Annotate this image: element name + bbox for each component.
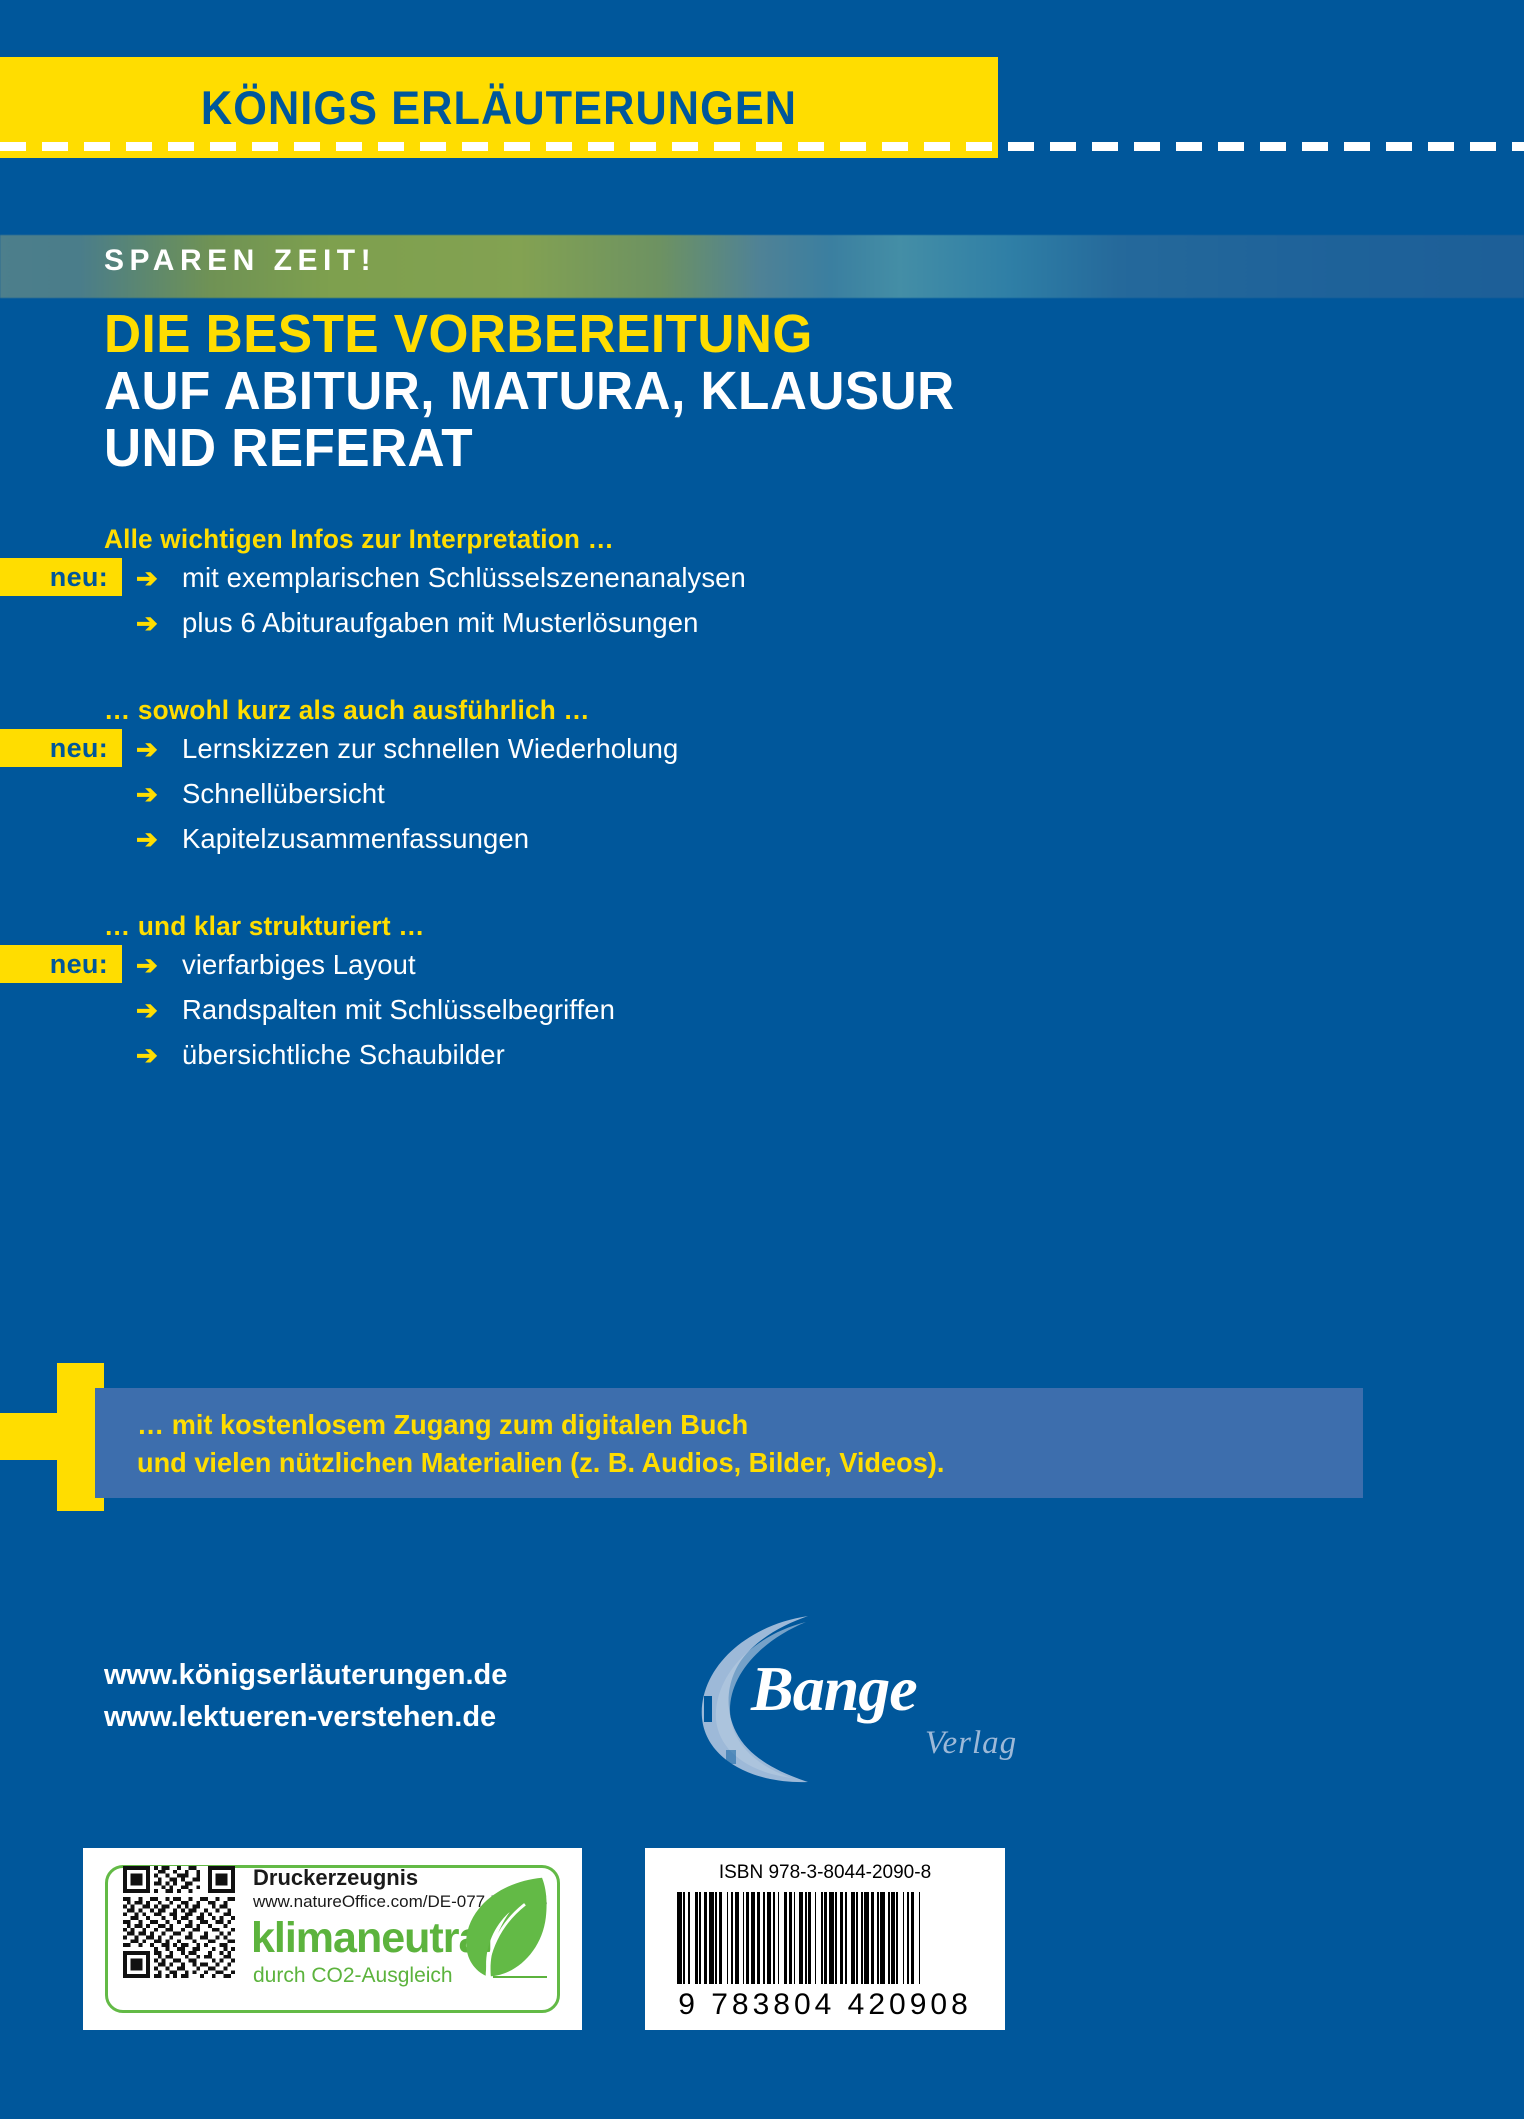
tagline-text: SPAREN ZEIT! — [104, 244, 376, 278]
list-item: ➔ Randspalten mit Schlüsselbegriffen — [0, 987, 1100, 1032]
list-item: ➔ Schnellübersicht — [0, 771, 1100, 816]
publisher-suffix: Verlag — [925, 1725, 1017, 1762]
list-item-label: vierfarbiges Layout — [182, 949, 416, 981]
feature-section: … und klar strukturiert … neu: ➔ vierfar… — [0, 911, 1100, 1077]
arrow-icon: ➔ — [136, 942, 158, 987]
isbn-label: ISBN 978-3-8044-2090-8 — [645, 1862, 1005, 1884]
feature-sections: Alle wichtigen Infos zur Interpretation … — [0, 524, 1100, 1077]
feature-list: neu: ➔ vierfarbiges Layout ➔ Randspalten… — [0, 942, 1100, 1077]
list-item: ➔ übersichtliche Schaubilder — [0, 1032, 1100, 1077]
url-lektueren-verstehen[interactable]: www.lektueren-verstehen.de — [104, 1696, 507, 1738]
list-item: ➔ Kapitelzusammenfassungen — [0, 816, 1100, 861]
list-item-label: mit exemplarischen Schlüsselszenenanalys… — [182, 562, 746, 594]
new-badge: neu: — [0, 558, 122, 596]
headline-line-2: AUF ABITUR, MATURA, KLAUSUR — [104, 363, 1054, 420]
dashed-divider — [0, 142, 1524, 151]
section-heading: Alle wichtigen Infos zur Interpretation … — [104, 524, 1070, 555]
section-spacer — [0, 861, 1100, 911]
new-badge: neu: — [0, 729, 122, 767]
section-heading: … sowohl kurz als auch ausführlich … — [104, 695, 1070, 726]
headline-line-1: DIE BESTE VORBEREITUNG — [104, 306, 1054, 363]
list-item: ➔ plus 6 Abituraufgaben mit Musterlösung… — [0, 600, 1100, 645]
list-item-label: Schnellübersicht — [182, 778, 385, 810]
qr-code-icon — [123, 1866, 235, 1978]
arrow-icon: ➔ — [136, 771, 158, 816]
barcode — [677, 1892, 973, 1984]
list-item: neu: ➔ mit exemplarischen Schlüsselszene… — [0, 555, 1100, 600]
callout-line-1: … mit kostenlosem Zugang zum digitalen B… — [137, 1409, 748, 1440]
book-back-cover: KÖNIGS ERLÄUTERUNGEN SPAREN ZEIT! DIE BE… — [0, 0, 1524, 2119]
list-item-label: Lernskizzen zur schnellen Wiederholung — [182, 733, 678, 765]
callout-line-2: und vielen nützlichen Materialien (z. B.… — [137, 1447, 944, 1478]
headline-line-3: UND REFERAT — [104, 420, 1054, 477]
arrow-icon: ➔ — [136, 555, 158, 600]
leaf-icon — [458, 1872, 554, 1982]
certificate-subline: durch CO2-Ausgleich — [253, 1964, 453, 1988]
feature-list: neu: ➔ Lernskizzen zur schnellen Wiederh… — [0, 726, 1100, 861]
feature-section: … sowohl kurz als auch ausführlich … neu… — [0, 695, 1100, 861]
arrow-icon: ➔ — [136, 1032, 158, 1077]
arrow-icon: ➔ — [136, 726, 158, 771]
section-spacer — [0, 645, 1100, 695]
publisher-name: Bange — [751, 1652, 917, 1726]
list-item: neu: ➔ vierfarbiges Layout — [0, 942, 1100, 987]
new-badge: neu: — [0, 945, 122, 983]
list-item-label: Randspalten mit Schlüsselbegriffen — [182, 994, 615, 1026]
arrow-icon: ➔ — [136, 816, 158, 861]
certificate-title: Druckerzeugnis — [253, 1865, 418, 1891]
list-item-label: übersichtliche Schaubilder — [182, 1039, 505, 1071]
arrow-icon: ➔ — [136, 600, 158, 645]
list-item-label: Kapitelzusammenfassungen — [182, 823, 529, 855]
feature-list: neu: ➔ mit exemplarischen Schlüsselszene… — [0, 555, 1100, 645]
feature-section: Alle wichtigen Infos zur Interpretation … — [0, 524, 1100, 645]
list-item-label: plus 6 Abituraufgaben mit Musterlösungen — [182, 607, 698, 639]
ean-number: 9 783804 420908 — [645, 1988, 1005, 2022]
callout-text: … mit kostenlosem Zugang zum digitalen B… — [137, 1406, 944, 1482]
list-item: neu: ➔ Lernskizzen zur schnellen Wiederh… — [0, 726, 1100, 771]
climate-certificate: Druckerzeugnis www.natureOffice.com/DE-0… — [83, 1848, 582, 2030]
publisher-logo: Bange Verlag — [680, 1600, 1080, 1790]
url-koenigserlaeuterungen[interactable]: www.königserläuterungen.de — [104, 1654, 507, 1696]
certificate-headline: klimaneutral — [251, 1914, 492, 1963]
section-heading: … und klar strukturiert … — [104, 911, 1070, 942]
website-urls: www.königserläuterungen.de www.lektueren… — [104, 1654, 507, 1738]
page-title: DIE BESTE VORBEREITUNG AUF ABITUR, MATUR… — [104, 306, 1054, 477]
arrow-icon: ➔ — [136, 987, 158, 1032]
isbn-barcode-panel: ISBN 978-3-8044-2090-8 9 783804 420908 — [645, 1848, 1005, 2030]
digital-access-callout: … mit kostenlosem Zugang zum digitalen B… — [95, 1388, 1363, 1498]
